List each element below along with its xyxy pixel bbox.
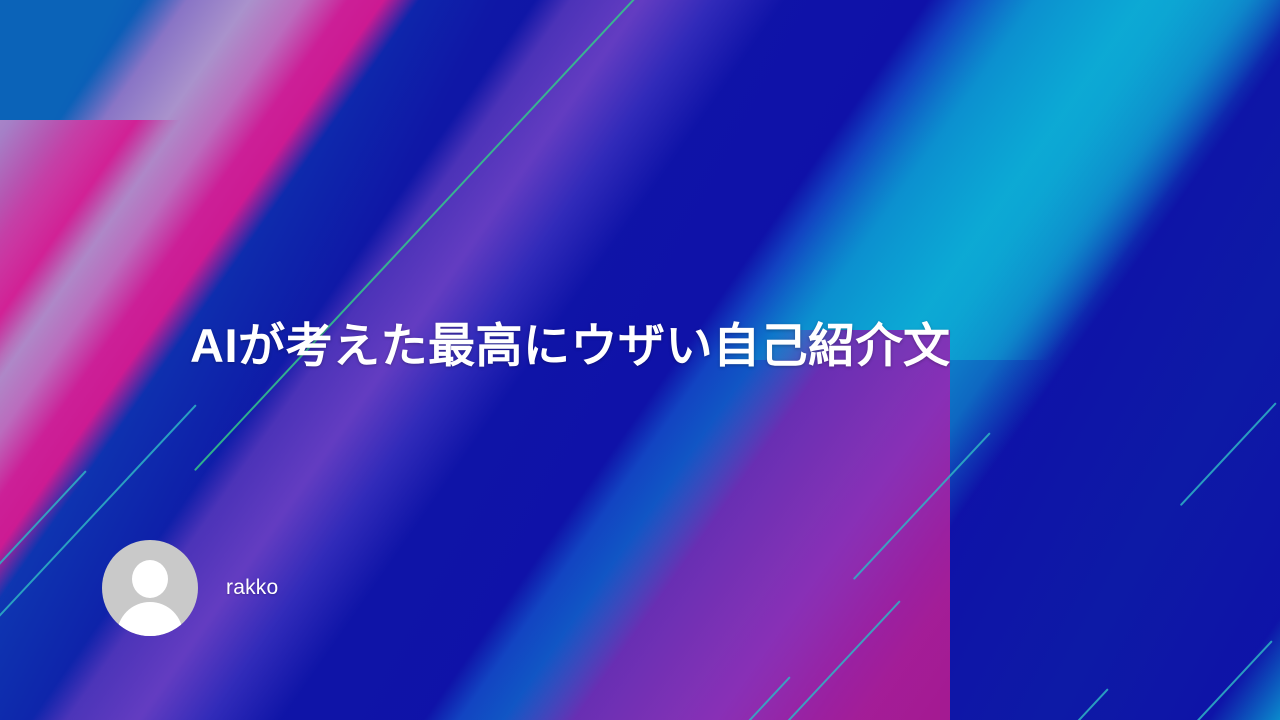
slide-content: AIが考えた最高にウザい自己紹介文 rakko — [0, 0, 1280, 720]
slide-title: AIが考えた最高にウザい自己紹介文 — [190, 319, 1100, 373]
avatar-body-shape — [117, 602, 183, 636]
user-avatar-icon — [102, 540, 198, 636]
author-byline: rakko — [102, 540, 278, 636]
title-slide: AIが考えた最高にウザい自己紹介文 rakko — [0, 0, 1280, 720]
author-name: rakko — [226, 576, 278, 600]
avatar-head-shape — [132, 560, 168, 598]
